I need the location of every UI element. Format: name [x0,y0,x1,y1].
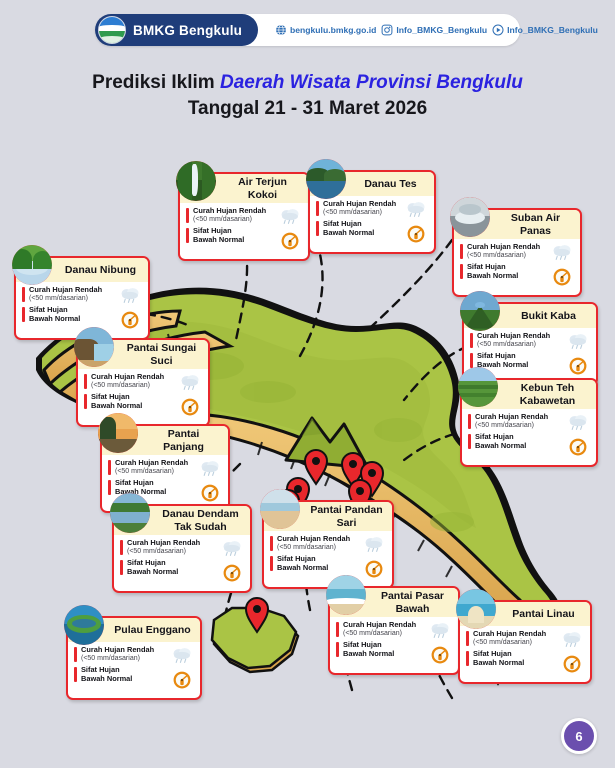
row-marker [84,374,87,389]
curah-label: Curah Hujan Rendah [323,200,396,209]
rain-cloud-icon [179,373,201,396]
thumbnail-pantai-pasar-bawah [326,575,366,615]
rain-cloud-icon [119,286,141,309]
card-body: Curah Hujan Rendah(<50 mm/dasarian)Sifat… [330,617,458,673]
info-card-suban-air-panas[interactable]: Suban Air PanasCurah Hujan Rendah(<50 mm… [452,208,582,297]
card-title: Pulau Enggano [108,624,193,637]
curah-label: Curah Hujan Rendah [127,539,200,548]
row-curah-hujan: Curah Hujan Rendah(<50 mm/dasarian) [468,413,565,430]
curah-label: Curah Hujan Rendah [467,243,540,252]
row-curah-hujan: Curah Hujan Rendah(<50 mm/dasarian) [336,621,427,638]
row-marker [22,307,25,322]
thumbnail-danau-tes [306,159,346,199]
curah-value: (<50 mm/dasarian) [91,382,164,391]
row-curah-hujan: Curah Hujan Rendah(<50 mm/dasarian) [270,535,361,552]
curah-label: Curah Hujan Rendah [475,413,548,422]
info-card-kebun-teh-kabawetan[interactable]: Kebun Teh KabawetanCurah Hujan Rendah(<5… [460,378,598,467]
card-title: Danau Nibung [56,264,141,277]
thumbnail-pantai-linau [456,589,496,629]
sifat-value: Bawah Normal [323,229,374,238]
info-card-pulau-enggano[interactable]: Pulau EngganoCurah Hujan Rendah(<50 mm/d… [66,616,202,700]
row-marker [186,228,189,243]
thumbnail-kebun-teh-kabawetan [458,367,498,407]
curah-value: (<50 mm/dasarian) [467,252,540,261]
sifat-value: Bawah Normal [193,236,244,245]
curah-value: (<50 mm/dasarian) [127,548,200,557]
globe-icon [275,24,287,36]
row-marker [84,394,87,409]
row-marker [120,540,123,555]
thumbnail-pantai-pandan-sari [260,489,300,529]
rain-gauge-low-icon [553,268,571,291]
youtube-icon [492,24,504,36]
rain-cloud-icon [279,207,301,230]
title-subtitle: Tanggal 21 - 31 Maret 2026 [0,96,615,122]
row-marker [460,244,463,259]
curah-value: (<50 mm/dasarian) [343,630,416,639]
curah-label: Curah Hujan Rendah [193,207,266,216]
row-sifat-hujan: Sifat HujanBawah Normal [466,650,559,667]
row-marker [460,264,463,279]
info-card-pantai-sungai-suci[interactable]: Pantai Sungai SuciCurah Hujan Rendah(<50… [76,338,210,427]
card-title: Pantai Linau [500,608,583,621]
rain-cloud-icon [567,413,589,436]
curah-label: Curah Hujan Rendah [277,535,350,544]
card-title: Pantai Pasar Bawah [370,590,451,615]
curah-value: (<50 mm/dasarian) [475,422,548,431]
row-marker [468,434,471,449]
info-card-danau-tes[interactable]: Danau TesCurah Hujan Rendah(<50 mm/dasar… [308,170,436,254]
thumbnail-danau-dendam-tak-sudah [110,493,150,533]
sifat-value: Bawah Normal [473,659,524,668]
curah-value: (<50 mm/dasarian) [29,295,102,304]
card-body: Curah Hujan Rendah(<50 mm/dasarian)Sifat… [454,239,580,295]
row-curah-hujan: Curah Hujan Rendah(<50 mm/dasarian) [186,207,277,224]
row-curah-hujan: Curah Hujan Rendah(<50 mm/dasarian) [22,286,117,303]
thumbnail-pantai-panjang [98,413,138,453]
sifat-value: Bawah Normal [127,568,178,577]
info-card-air-terjun-kokoi[interactable]: Air Terjun KokoiCurah Hujan Rendah(<50 m… [178,172,310,261]
sifat-value: Bawah Normal [343,650,394,659]
card-body: Curah Hujan Rendah(<50 mm/dasarian)Sifat… [460,626,590,682]
row-marker [74,647,77,662]
curah-value: (<50 mm/dasarian) [193,216,266,225]
youtube-link[interactable]: Info_BMKG_Bengkulu [492,24,598,36]
row-curah-hujan: Curah Hujan Rendah(<50 mm/dasarian) [120,539,219,556]
rain-cloud-icon [405,200,427,223]
curah-value: (<50 mm/dasarian) [473,639,546,648]
thumbnail-bukit-kaba [460,291,500,331]
card-title: Bukit Kaba [504,310,589,323]
card-title: Suban Air Panas [494,212,573,237]
curah-value: (<50 mm/dasarian) [323,209,396,218]
info-card-pantai-pasar-bawah[interactable]: Pantai Pasar BawahCurah Hujan Rendah(<50… [328,586,460,675]
row-curah-hujan: Curah Hujan Rendah(<50 mm/dasarian) [466,630,559,647]
card-body: Curah Hujan Rendah(<50 mm/dasarian)Sifat… [68,642,200,698]
row-sifat-hujan: Sifat HujanBawah Normal [316,220,403,237]
row-marker [22,287,25,302]
row-curah-hujan: Curah Hujan Rendah(<50 mm/dasarian) [108,459,197,476]
row-sifat-hujan: Sifat HujanBawah Normal [84,393,177,410]
sifat-value: Bawah Normal [467,272,518,281]
row-sifat-hujan: Sifat HujanBawah Normal [336,641,427,658]
row-marker [336,622,339,637]
page-number-badge: 6 [561,718,597,754]
curah-label: Curah Hujan Rendah [477,332,550,341]
row-marker [270,536,273,551]
row-marker [120,560,123,575]
curah-value: (<50 mm/dasarian) [115,468,188,477]
rain-cloud-icon [561,630,583,653]
rain-cloud-icon [171,646,193,669]
rain-gauge-low-icon [121,311,139,334]
card-title: Danau Dendam Tak Sudah [154,508,243,533]
row-marker [466,631,469,646]
row-curah-hujan: Curah Hujan Rendah(<50 mm/dasarian) [470,332,565,349]
title-highlight: Daerah Wisata Provinsi Bengkulu [220,72,523,93]
card-title: Danau Tes [350,178,427,191]
row-marker [470,353,473,368]
row-marker [466,651,469,666]
website-label: bengkulu.bmkg.go.id [290,25,376,35]
sifat-value: Bawah Normal [91,402,142,411]
rain-gauge-low-icon [173,671,191,694]
row-marker [270,556,273,571]
social-links: bengkulu.bmkg.go.id Info_BMKG_Bengkulu I… [275,14,598,46]
curah-value: (<50 mm/dasarian) [81,655,154,664]
rain-gauge-low-icon [223,564,241,587]
row-sifat-hujan: Sifat HujanBawah Normal [74,666,169,683]
instagram-label: Info_BMKG_Bengkulu [396,25,487,35]
card-body: Curah Hujan Rendah(<50 mm/dasarian)Sifat… [180,203,308,259]
curah-label: Curah Hujan Rendah [81,646,154,655]
row-curah-hujan: Curah Hujan Rendah(<50 mm/dasarian) [74,646,169,663]
curah-label: Curah Hujan Rendah [115,459,188,468]
row-marker [74,667,77,682]
curah-label: Curah Hujan Rendah [473,630,546,639]
rain-gauge-low-icon [431,646,449,669]
row-curah-hujan: Curah Hujan Rendah(<50 mm/dasarian) [316,200,403,217]
card-title: Pantai Panjang [142,428,221,453]
sifat-value: Bawah Normal [29,315,80,324]
row-curah-hujan: Curah Hujan Rendah(<50 mm/dasarian) [460,243,549,260]
brand-label: BMKG Bengkulu [133,23,242,38]
row-sifat-hujan: Sifat HujanBawah Normal [186,227,277,244]
thumbnail-suban-air-panas [450,197,490,237]
page-title: Prediksi Iklim Daerah Wisata Provinsi Be… [0,70,615,122]
card-title: Pantai Sungai Suci [118,342,201,367]
rain-gauge-low-icon [407,225,425,248]
rain-gauge-low-icon [569,357,587,380]
curah-value: (<50 mm/dasarian) [477,341,550,350]
bmkg-logo-icon [98,16,126,44]
rain-gauge-low-icon [281,232,299,255]
row-marker [186,208,189,223]
brand-pill: BMKG Bengkulu [95,14,258,46]
rain-cloud-icon [429,621,451,644]
instagram-icon [381,24,393,36]
row-sifat-hujan: Sifat HujanBawah Normal [468,433,565,450]
sifat-value: Bawah Normal [475,442,526,451]
thumbnail-pulau-enggano [64,605,104,645]
rain-cloud-icon [567,332,589,355]
row-sifat-hujan: Sifat HujanBawah Normal [270,555,361,572]
curah-label: Curah Hujan Rendah [343,621,416,630]
row-sifat-hujan: Sifat HujanBawah Normal [460,263,549,280]
row-marker [316,201,319,216]
row-marker [336,642,339,657]
thumbnail-air-terjun-kokoi [176,161,216,201]
card-body: Curah Hujan Rendah(<50 mm/dasarian)Sifat… [310,196,434,252]
rain-gauge-low-icon [563,655,581,678]
row-curah-hujan: Curah Hujan Rendah(<50 mm/dasarian) [84,373,177,390]
sifat-value: Bawah Normal [277,564,328,573]
header-bar: BMKG Bengkulu bengkulu.bmkg.go.id [95,14,520,46]
row-sifat-hujan: Sifat HujanBawah Normal [120,559,219,576]
thumbnail-pantai-sungai-suci [74,327,114,367]
row-marker [108,460,111,475]
instagram-link[interactable]: Info_BMKG_Bengkulu [381,24,487,36]
row-marker [468,414,471,429]
curah-value: (<50 mm/dasarian) [277,544,350,553]
rain-cloud-icon [551,243,573,266]
info-card-danau-dendam-tak-sudah[interactable]: Danau Dendam Tak SudahCurah Hujan Rendah… [112,504,252,593]
sifat-value: Bawah Normal [81,675,132,684]
row-marker [316,221,319,236]
rain-gauge-low-icon [365,560,383,583]
youtube-label: Info_BMKG_Bengkulu [507,25,598,35]
card-title: Pantai Pandan Sari [304,504,385,529]
rain-cloud-icon [199,459,221,482]
row-sifat-hujan: Sifat HujanBawah Normal [22,306,117,323]
card-title: Air Terjun Kokoi [220,176,301,201]
rain-gauge-low-icon [181,398,199,421]
rain-cloud-icon [221,539,243,562]
curah-label: Curah Hujan Rendah [91,373,164,382]
card-body: Curah Hujan Rendah(<50 mm/dasarian)Sifat… [114,535,250,591]
website-link[interactable]: bengkulu.bmkg.go.id [275,24,376,36]
card-body: Curah Hujan Rendah(<50 mm/dasarian)Sifat… [462,409,596,465]
thumbnail-danau-nibung [12,245,52,285]
row-marker [470,333,473,348]
card-title: Kebun Teh Kabawetan [502,382,589,407]
info-card-pantai-linau[interactable]: Pantai LinauCurah Hujan Rendah(<50 mm/da… [458,600,592,684]
curah-label: Curah Hujan Rendah [29,286,102,295]
rain-gauge-low-icon [569,438,587,461]
title-plain: Prediksi Iklim [92,72,220,93]
rain-cloud-icon [363,535,385,558]
